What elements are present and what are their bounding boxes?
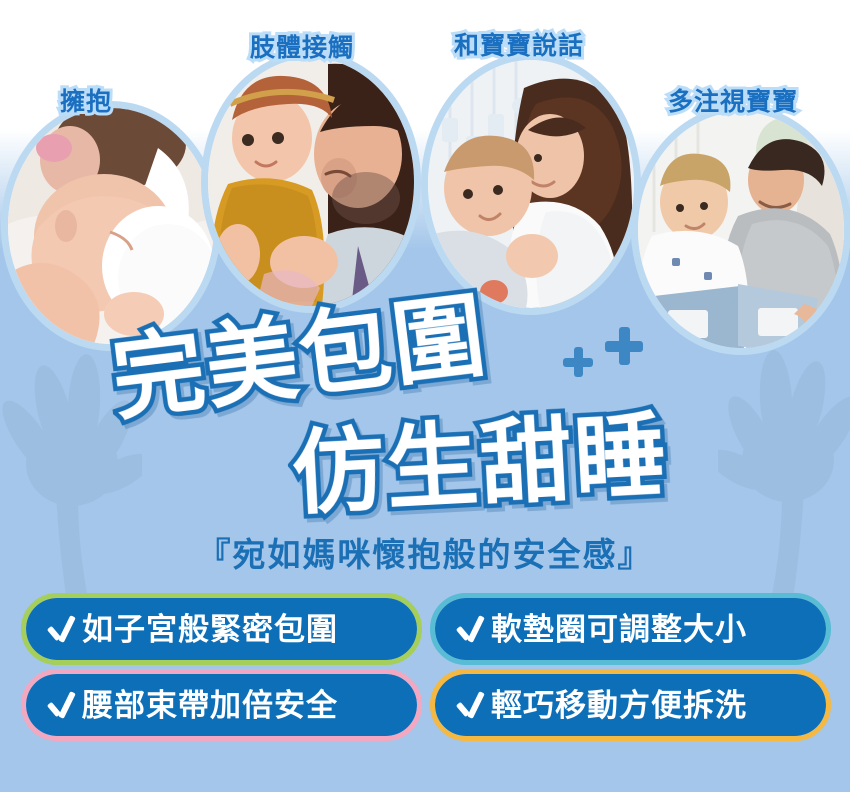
check-icon bbox=[46, 614, 76, 644]
feature-pill-label: 軟墊圈可調整大小 bbox=[491, 614, 747, 645]
check-icon bbox=[455, 614, 485, 644]
photo-circle-2 bbox=[208, 58, 414, 306]
headline: 完美包圍 仿生甜睡 bbox=[0, 300, 850, 510]
photo-circle-1-label: 擁抱 bbox=[60, 82, 112, 118]
feature-pill[interactable]: 軟墊圈可調整大小 bbox=[435, 598, 826, 660]
feature-pill[interactable]: 輕巧移動方便拆洗 bbox=[435, 674, 826, 736]
promo-poster: 擁抱 bbox=[0, 0, 850, 792]
subtitle: 『宛如媽咪懷抱般的安全感』 bbox=[0, 528, 850, 576]
headline-line-2: 仿生甜睡 bbox=[289, 380, 671, 532]
check-icon bbox=[455, 690, 485, 720]
photo-circle-3-label: 和寶寶說話 bbox=[454, 26, 584, 62]
feature-pill[interactable]: 腰部束帶加倍安全 bbox=[26, 674, 417, 736]
feature-pill-label: 輕巧移動方便拆洗 bbox=[491, 690, 747, 721]
photo-circle-4-label: 多注視寶寶 bbox=[668, 82, 798, 118]
feature-pill[interactable]: 如子宮般緊密包圍 bbox=[26, 598, 417, 660]
feature-pill-list: 如子宮般緊密包圍 軟墊圈可調整大小 腰部束帶加倍安全 輕巧移動方便拆洗 bbox=[26, 598, 826, 736]
feature-pill-label: 如子宮般緊密包圍 bbox=[82, 614, 338, 645]
check-icon bbox=[46, 690, 76, 720]
photo-father-kissing-toddler-girl bbox=[208, 58, 414, 306]
feature-pill-label: 腰部束帶加倍安全 bbox=[82, 690, 338, 721]
photo-circle-2-label: 肢體接觸 bbox=[250, 28, 354, 64]
